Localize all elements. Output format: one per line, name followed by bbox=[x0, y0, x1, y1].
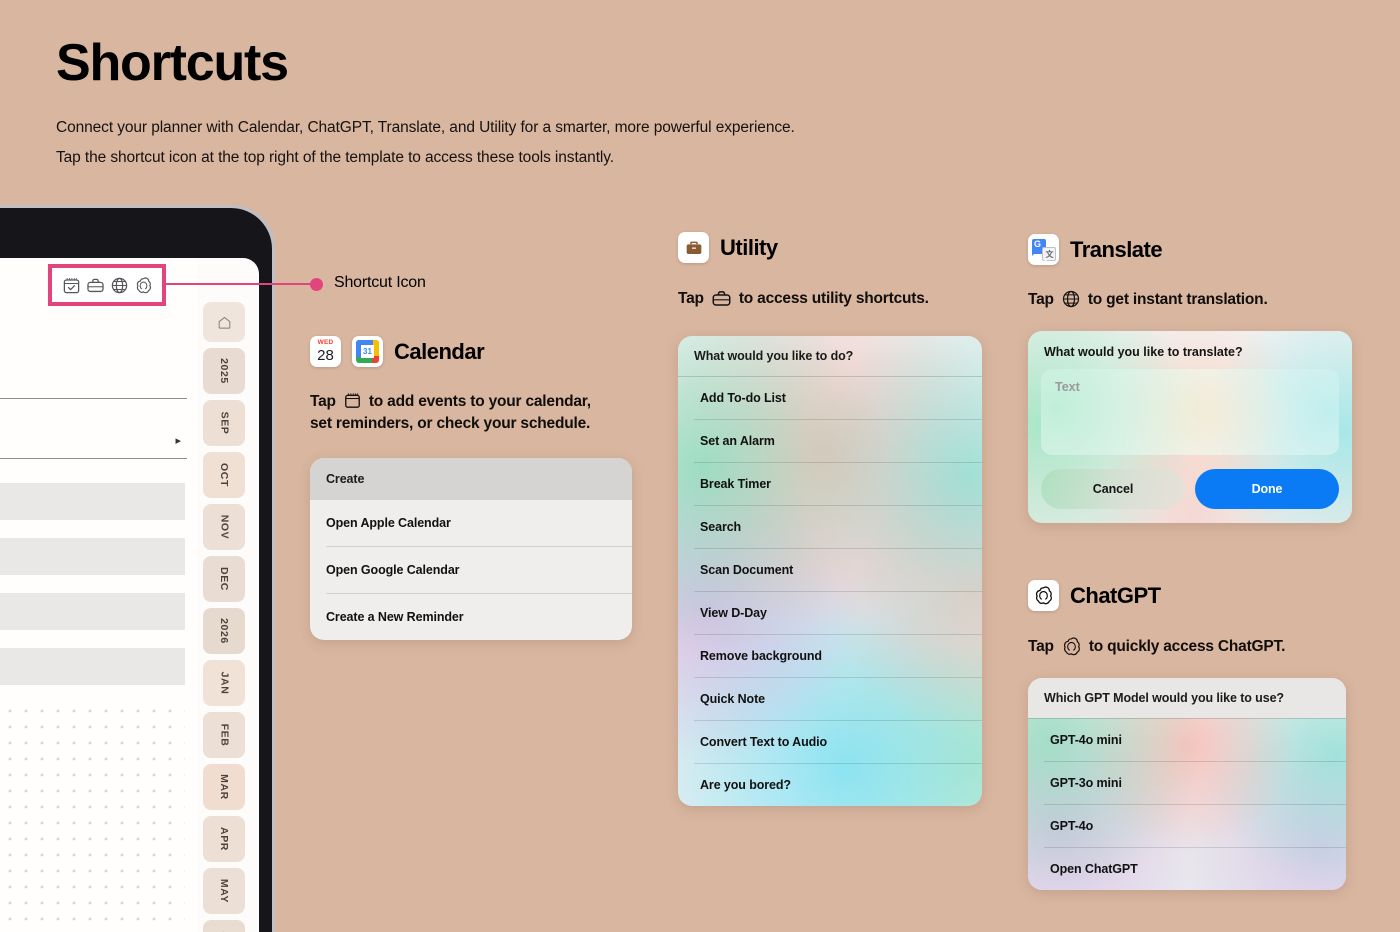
subtitle-line-2: Tap the shortcut icon at the top right o… bbox=[56, 143, 956, 173]
utility-card-item[interactable]: Convert Text to Audio bbox=[678, 721, 982, 763]
translate-section-header: G 文 Translate bbox=[1028, 234, 1358, 265]
section-utility: Utility Tap to access utility shortcuts.… bbox=[678, 232, 988, 806]
planner-page: ▸ ▸ ▸ ▸ ▸ bbox=[0, 258, 197, 932]
rail-tab-label: OCT bbox=[218, 463, 230, 487]
rail-tab-jun[interactable]: JUN bbox=[203, 920, 245, 932]
chatgpt-title: ChatGPT bbox=[1070, 583, 1161, 609]
tablet-screen: ▸ ▸ ▸ ▸ ▸ 2025SEPOCTNOVDEC2026JANFEBMARA… bbox=[0, 258, 259, 932]
rail-tab-label: NOV bbox=[218, 515, 230, 540]
utility-card-item[interactable]: Quick Note bbox=[678, 678, 982, 720]
utility-section-header: Utility bbox=[678, 232, 988, 263]
rail-tab-label: 2025 bbox=[218, 358, 230, 384]
planner-row-block: ▸ bbox=[0, 538, 185, 575]
chatgpt-section-header: ChatGPT bbox=[1028, 580, 1358, 611]
calendar-title: Calendar bbox=[394, 339, 484, 365]
rail-tab-dec[interactable]: DEC bbox=[203, 556, 245, 602]
rail-tab-home[interactable] bbox=[203, 302, 245, 342]
translate-dialog-card: What would you like to translate? Text C… bbox=[1028, 331, 1352, 523]
utility-desc-before: Tap bbox=[678, 288, 704, 310]
rail-tab-label: JAN bbox=[218, 672, 230, 695]
rail-tab-feb[interactable]: FEB bbox=[203, 712, 245, 758]
chatgpt-icon[interactable] bbox=[134, 276, 153, 295]
apple-calendar-day: 28 bbox=[317, 348, 334, 363]
calendar-card-item[interactable]: Create a New Reminder bbox=[310, 594, 632, 640]
chatgpt-card-item[interactable]: GPT-3o mini bbox=[1028, 762, 1346, 804]
rail-tab-oct[interactable]: OCT bbox=[203, 452, 245, 498]
calendar-popover-card: Create Open Apple Calendar Open Google C… bbox=[310, 458, 632, 640]
apple-calendar-weekday: WED bbox=[318, 340, 334, 347]
google-translate-icon: G 文 bbox=[1028, 234, 1059, 265]
planner-caret-icon: ▸ bbox=[175, 436, 181, 447]
utility-card-item[interactable]: Set an Alarm bbox=[678, 420, 982, 462]
calendar-desc-after-1: to add events to your calendar, bbox=[369, 391, 591, 413]
rail-tab-label: SEP bbox=[218, 412, 230, 435]
calendar-card-title: Create bbox=[310, 458, 632, 500]
planner-row-block: ▸ bbox=[0, 593, 185, 630]
chatgpt-popover-card: Which GPT Model would you like to use? G… bbox=[1028, 678, 1346, 890]
calendar-desc-before: Tap bbox=[310, 391, 336, 413]
calendar-section-header: WED 28 31 Calendar bbox=[310, 336, 650, 367]
translate-dialog-buttons: Cancel Done bbox=[1028, 455, 1352, 523]
calendar-inline-icon bbox=[343, 391, 362, 410]
utility-card-item[interactable]: Break Timer bbox=[678, 463, 982, 505]
translate-description: Tap to get instant translation. bbox=[1028, 289, 1358, 311]
briefcase-icon[interactable] bbox=[86, 276, 105, 295]
translate-text-input[interactable]: Text bbox=[1041, 369, 1339, 455]
rail-tab-label: MAY bbox=[218, 879, 230, 903]
rail-tab-mar[interactable]: MAR bbox=[203, 764, 245, 810]
utility-card-item[interactable]: Remove background bbox=[678, 635, 982, 677]
planner-rule bbox=[0, 458, 187, 459]
utility-title: Utility bbox=[720, 235, 778, 261]
cancel-button[interactable]: Cancel bbox=[1041, 469, 1185, 509]
rail-tab-jan[interactable]: JAN bbox=[203, 660, 245, 706]
briefcase-inline-icon bbox=[711, 288, 732, 309]
planner-dot-grid bbox=[0, 703, 185, 932]
rail-tab-2025[interactable]: 2025 bbox=[203, 348, 245, 394]
translate-card-title: What would you like to translate? bbox=[1028, 331, 1352, 369]
globe-icon[interactable] bbox=[110, 276, 129, 295]
page-header: Shortcuts Connect your planner with Cale… bbox=[56, 36, 956, 173]
chatgpt-inline-icon bbox=[1061, 636, 1082, 657]
rail-tab-may[interactable]: MAY bbox=[203, 868, 245, 914]
chatgpt-card-item[interactable]: Open ChatGPT bbox=[1028, 848, 1346, 890]
planner-tab-rail: 2025SEPOCTNOVDEC2026JANFEBMARAPRMAYJUNJU… bbox=[195, 302, 253, 932]
calendar-card-item[interactable]: Open Apple Calendar bbox=[310, 500, 632, 546]
chatgpt-description: Tap to quickly access ChatGPT. bbox=[1028, 636, 1358, 658]
utility-description: Tap to access utility shortcuts. bbox=[678, 288, 988, 310]
rail-tab-2026[interactable]: 2026 bbox=[203, 608, 245, 654]
rail-tab-label: MAR bbox=[218, 774, 230, 800]
section-calendar: WED 28 31 Calendar Tap to add eve bbox=[310, 336, 650, 640]
chatgpt-desc-before: Tap bbox=[1028, 636, 1054, 658]
planner-rule bbox=[0, 398, 187, 399]
calendar-description: Tap to add events to your calendar, set … bbox=[310, 391, 650, 436]
planner-row-block: ▸ bbox=[0, 648, 185, 685]
section-translate: G 文 Translate Tap to get instant transla… bbox=[1028, 234, 1358, 523]
translate-desc-after: to get instant translation. bbox=[1088, 289, 1268, 311]
utility-popover-card: What would you like to do? Add To-do Lis… bbox=[678, 336, 982, 806]
utility-app-icon bbox=[678, 232, 709, 263]
rail-tab-label: FEB bbox=[218, 724, 230, 747]
rail-tab-sep[interactable]: SEP bbox=[203, 400, 245, 446]
rail-tab-nov[interactable]: NOV bbox=[203, 504, 245, 550]
rail-tab-label: 2026 bbox=[218, 618, 230, 644]
utility-card-item[interactable]: Are you bored? bbox=[678, 764, 982, 806]
rail-tab-label: DEC bbox=[218, 567, 230, 591]
translate-desc-before: Tap bbox=[1028, 289, 1054, 311]
google-calendar-icon: 31 bbox=[352, 336, 383, 367]
rail-tab-apr[interactable]: APR bbox=[203, 816, 245, 862]
utility-card-title: What would you like to do? bbox=[678, 336, 982, 376]
chatgpt-app-icon bbox=[1028, 580, 1059, 611]
translate-title: Translate bbox=[1070, 237, 1162, 263]
done-button[interactable]: Done bbox=[1195, 469, 1339, 509]
utility-card-item[interactable]: Scan Document bbox=[678, 549, 982, 591]
rail-tab-label: APR bbox=[218, 827, 230, 851]
globe-inline-icon bbox=[1061, 289, 1081, 309]
utility-card-item[interactable]: Add To-do List bbox=[678, 377, 982, 419]
shortcut-icon-highlight bbox=[48, 264, 166, 306]
calendar-check-icon[interactable] bbox=[62, 276, 81, 295]
home-icon bbox=[217, 315, 232, 330]
annotation-dot bbox=[310, 278, 323, 291]
tablet-mockup: ▸ ▸ ▸ ▸ ▸ 2025SEPOCTNOVDEC2026JANFEBMARA… bbox=[0, 205, 275, 932]
chatgpt-card-item[interactable]: GPT-4o mini bbox=[1028, 719, 1346, 761]
chatgpt-card-title: Which GPT Model would you like to use? bbox=[1028, 678, 1346, 718]
utility-card-item[interactable]: View D-Day bbox=[678, 592, 982, 634]
annotation-label: Shortcut Icon bbox=[334, 274, 426, 292]
utility-desc-after: to access utility shortcuts. bbox=[739, 288, 929, 310]
utility-card-item[interactable]: Search bbox=[678, 506, 982, 548]
page-subtitle: Connect your planner with Calendar, Chat… bbox=[56, 113, 956, 173]
subtitle-line-1: Connect your planner with Calendar, Chat… bbox=[56, 113, 956, 143]
planner-row-block: ▸ bbox=[0, 483, 185, 520]
apple-calendar-icon: WED 28 bbox=[310, 336, 341, 367]
chatgpt-desc-after: to quickly access ChatGPT. bbox=[1089, 636, 1285, 658]
calendar-card-item[interactable]: Open Google Calendar bbox=[310, 547, 632, 593]
calendar-desc-line-2: set reminders, or check your schedule. bbox=[310, 413, 650, 435]
page-title: Shortcuts bbox=[56, 36, 956, 91]
annotation-leader-line bbox=[166, 283, 318, 285]
google-calendar-day: 31 bbox=[361, 345, 374, 358]
section-chatgpt: ChatGPT Tap to quickly access ChatGPT. W… bbox=[1028, 580, 1358, 890]
chatgpt-card-item[interactable]: GPT-4o bbox=[1028, 805, 1346, 847]
